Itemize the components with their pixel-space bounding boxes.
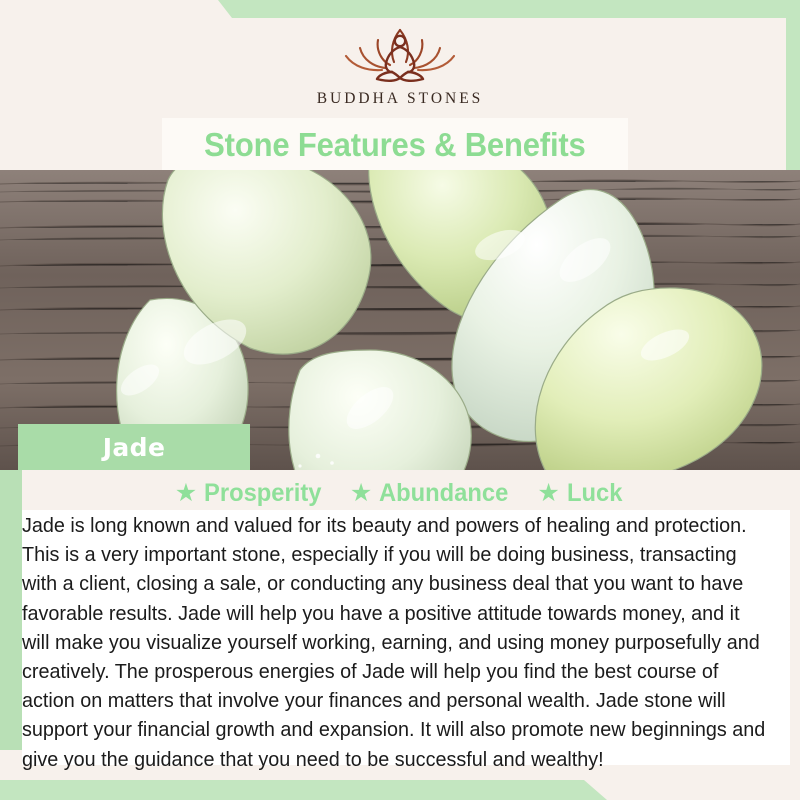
star-icon: ★ [175,481,197,506]
benefit-label: Abundance [379,479,508,508]
benefit-item: ★ Prosperity [175,479,328,508]
lotus-meditation-icon [330,20,470,86]
description-panel: Jade is long known and valued for its be… [22,510,790,765]
decorative-bottom-shape [0,780,800,800]
benefit-item: ★ Luck [537,479,625,508]
benefit-label: Prosperity [204,479,321,508]
page-title: Stone Features & Benefits [204,126,585,164]
stone-description: Jade is long known and valued for its be… [22,512,767,775]
brand-name: BUDDHA STONES [317,90,484,108]
decorative-top-right-shape [0,0,800,18]
brand-logo: BUDDHA STONES [0,20,800,120]
benefit-label: Luck [567,479,622,508]
benefits-list: ★ Prosperity ★ Abundance ★ Luck [0,476,800,510]
star-icon: ★ [350,481,372,506]
infographic-page: BUDDHA STONES Stone Features & Benefits [0,0,800,800]
benefit-item: ★ Abundance [350,479,516,508]
stone-name: Jade [103,433,166,462]
stone-name-banner: Jade [18,424,250,470]
star-icon: ★ [537,481,559,506]
title-banner: Stone Features & Benefits [162,118,628,172]
